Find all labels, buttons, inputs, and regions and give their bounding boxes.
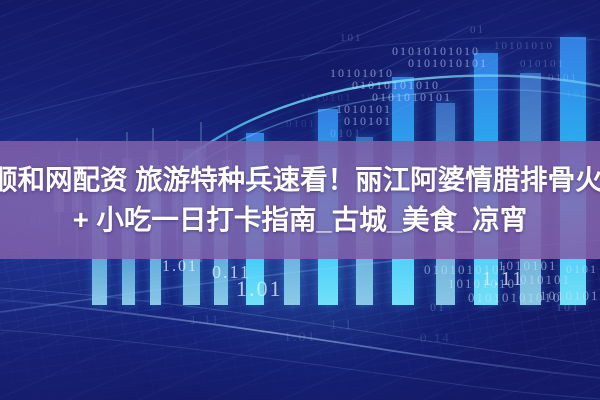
- binary-digit-text: 0101: [566, 262, 598, 277]
- title-line-1: 顺和网配资 旅游特种兵速看！丽江阿婆情腊排骨火锅: [0, 163, 600, 197]
- binary-digit-text: 101: [566, 88, 589, 100]
- binary-digit-text: 101: [556, 300, 580, 315]
- binary-digit-text: 1.1: [330, 318, 354, 334]
- title-line-2: + 小吃一日打卡指南_古城_美食_凉宵: [73, 203, 528, 237]
- title-block: 顺和网配资 旅游特种兵速看！丽江阿婆情腊排骨火锅 + 小吃一日打卡指南_古城_美…: [0, 141, 600, 259]
- binary-digit-text: 10101010: [494, 40, 554, 52]
- binary-digit-text: 010101: [520, 58, 565, 70]
- binary-digit-text: 0.14: [420, 330, 451, 346]
- binary-digit-text: 1.01: [284, 330, 317, 346]
- binary-digit-text: 0101: [330, 126, 362, 141]
- binary-digit-text: 1010101: [300, 92, 353, 104]
- binary-digit-text: 0101: [286, 118, 316, 130]
- binary-digit-text: 0.11: [212, 262, 251, 283]
- binary-digit-text: 1.11: [482, 268, 524, 291]
- binary-digit-text: 101: [340, 32, 363, 44]
- binary-digit-text: 1.11: [190, 312, 220, 328]
- binary-digit-text: 0101010101: [408, 56, 488, 71]
- binary-digit-text: 0101: [548, 72, 578, 84]
- binary-digit-text: 01: [430, 300, 446, 315]
- binary-digit-text: 1.01: [162, 258, 198, 276]
- binary-digit-text: 01: [470, 24, 485, 36]
- binary-digit-text: 010101: [520, 272, 571, 288]
- banner-image: 0101010101001010101011010101001010101010…: [0, 0, 600, 400]
